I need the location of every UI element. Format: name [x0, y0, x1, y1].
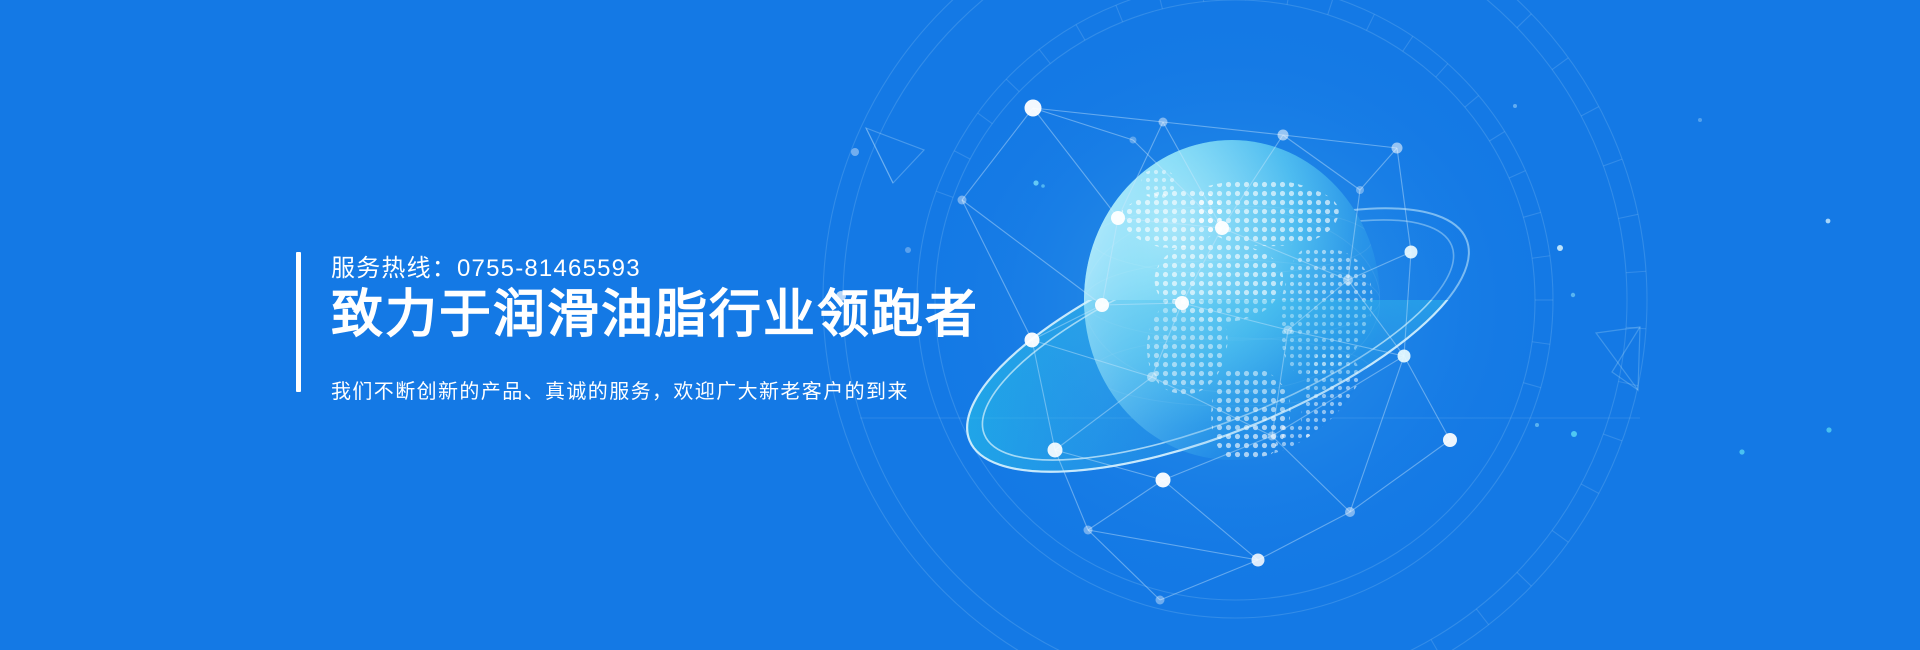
network-mesh-icon — [962, 108, 1450, 600]
tick-marks-outer — [936, 0, 1646, 650]
orbit-ring-icon — [935, 154, 1501, 525]
hero-copy-block: 服务热线：0755-81465593 致力于润滑油脂行业领跑者 我们不断创新的产… — [296, 252, 979, 392]
hero-copy-text: 服务热线：0755-81465593 致力于润滑油脂行业领跑者 我们不断创新的产… — [301, 252, 979, 392]
wireframe-triangle-icon-2 — [1596, 327, 1640, 390]
globe-icon — [1084, 140, 1380, 471]
hero-subtitle: 我们不断创新的产品、真诚的服务，欢迎广大新老客户的到来 — [331, 379, 979, 405]
service-hotline: 服务热线：0755-81465593 — [331, 254, 979, 284]
orbit-ring-front-icon — [935, 154, 1501, 525]
wireframe-triangle-icon — [866, 128, 924, 183]
network-nodes — [958, 100, 1458, 605]
globe-glow — [905, 5, 1565, 605]
page-title: 致力于润滑油脂行业领跑者 — [331, 286, 979, 344]
ambient-dots — [836, 104, 1832, 455]
promo-banner: 服务热线：0755-81465593 致力于润滑油脂行业领跑者 我们不断创新的产… — [0, 0, 1920, 650]
